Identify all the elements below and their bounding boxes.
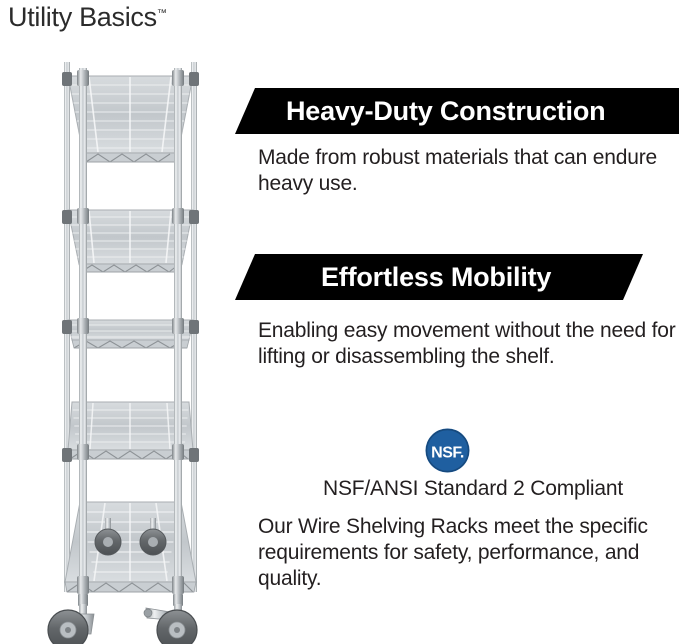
svg-text:NSF.: NSF. — [431, 445, 464, 462]
trademark-symbol: ™ — [157, 8, 167, 19]
product-image-wire-shelving-rack — [28, 58, 233, 644]
feature-body-effortless-mobility: Enabling easy movement without the need … — [258, 318, 678, 370]
nsf-compliance-body: Our Wire Shelving Racks meet the specifi… — [258, 514, 678, 592]
feature-banner-heavy-duty-construction: Heavy-Duty Construction — [235, 88, 679, 134]
feature-body-heavy-duty-construction: Made from robust materials that can endu… — [258, 145, 678, 197]
nsf-certification-logo: NSF. — [425, 428, 470, 473]
nsf-compliance-headline: NSF/ANSI Standard 2 Compliant — [258, 476, 679, 502]
caster-front-left — [48, 594, 94, 644]
feature-banner-label: Heavy-Duty Construction — [286, 96, 605, 127]
feature-column: Heavy-Duty Construction Made from robust… — [235, 0, 679, 644]
feature-banner-effortless-mobility: Effortless Mobility — [235, 254, 643, 300]
caster-front-right — [144, 594, 197, 644]
nsf-logo-icon: NSF. — [425, 428, 470, 473]
wire-shelving-illustration — [28, 58, 233, 644]
feature-banner-label: Effortless Mobility — [321, 262, 551, 293]
marketing-infographic: Utility Basics™ — [0, 0, 679, 644]
brand-name: Utility Basics — [8, 2, 157, 32]
brand-title: Utility Basics™ — [8, 2, 167, 33]
